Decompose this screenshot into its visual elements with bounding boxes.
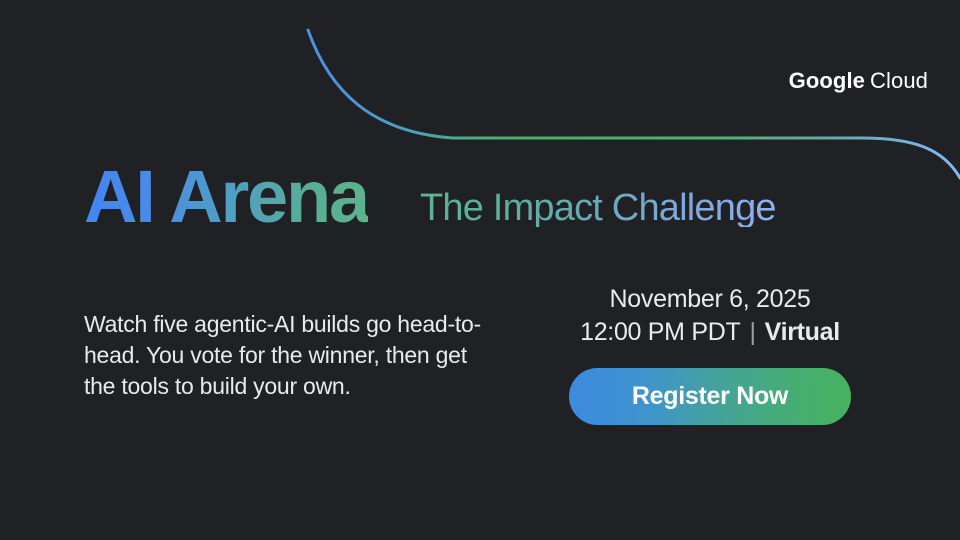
brand-cloud: Cloud bbox=[870, 68, 928, 93]
google-cloud-logo: GoogleCloud bbox=[789, 68, 928, 94]
hero-description: Watch five agentic-AI builds go head-to-… bbox=[84, 309, 484, 401]
event-separator: | bbox=[749, 317, 755, 348]
page-subtitle: The Impact Challenge bbox=[420, 189, 776, 227]
brand-google: Google bbox=[789, 68, 865, 93]
page-title: AI Arena bbox=[84, 160, 368, 234]
headline-row: AI Arena The Impact Challenge bbox=[84, 160, 776, 234]
event-time: 12:00 PM PDT bbox=[580, 317, 740, 348]
promo-banner: GoogleCloud AI Arena The Impact Challeng… bbox=[0, 0, 960, 540]
event-details: November 6, 2025 12:00 PM PDT | Virtual … bbox=[520, 284, 900, 425]
event-mode: Virtual bbox=[765, 317, 840, 348]
event-date: November 6, 2025 bbox=[610, 284, 811, 315]
register-now-button[interactable]: Register Now bbox=[569, 368, 851, 425]
event-meta: 12:00 PM PDT | Virtual bbox=[580, 317, 840, 348]
